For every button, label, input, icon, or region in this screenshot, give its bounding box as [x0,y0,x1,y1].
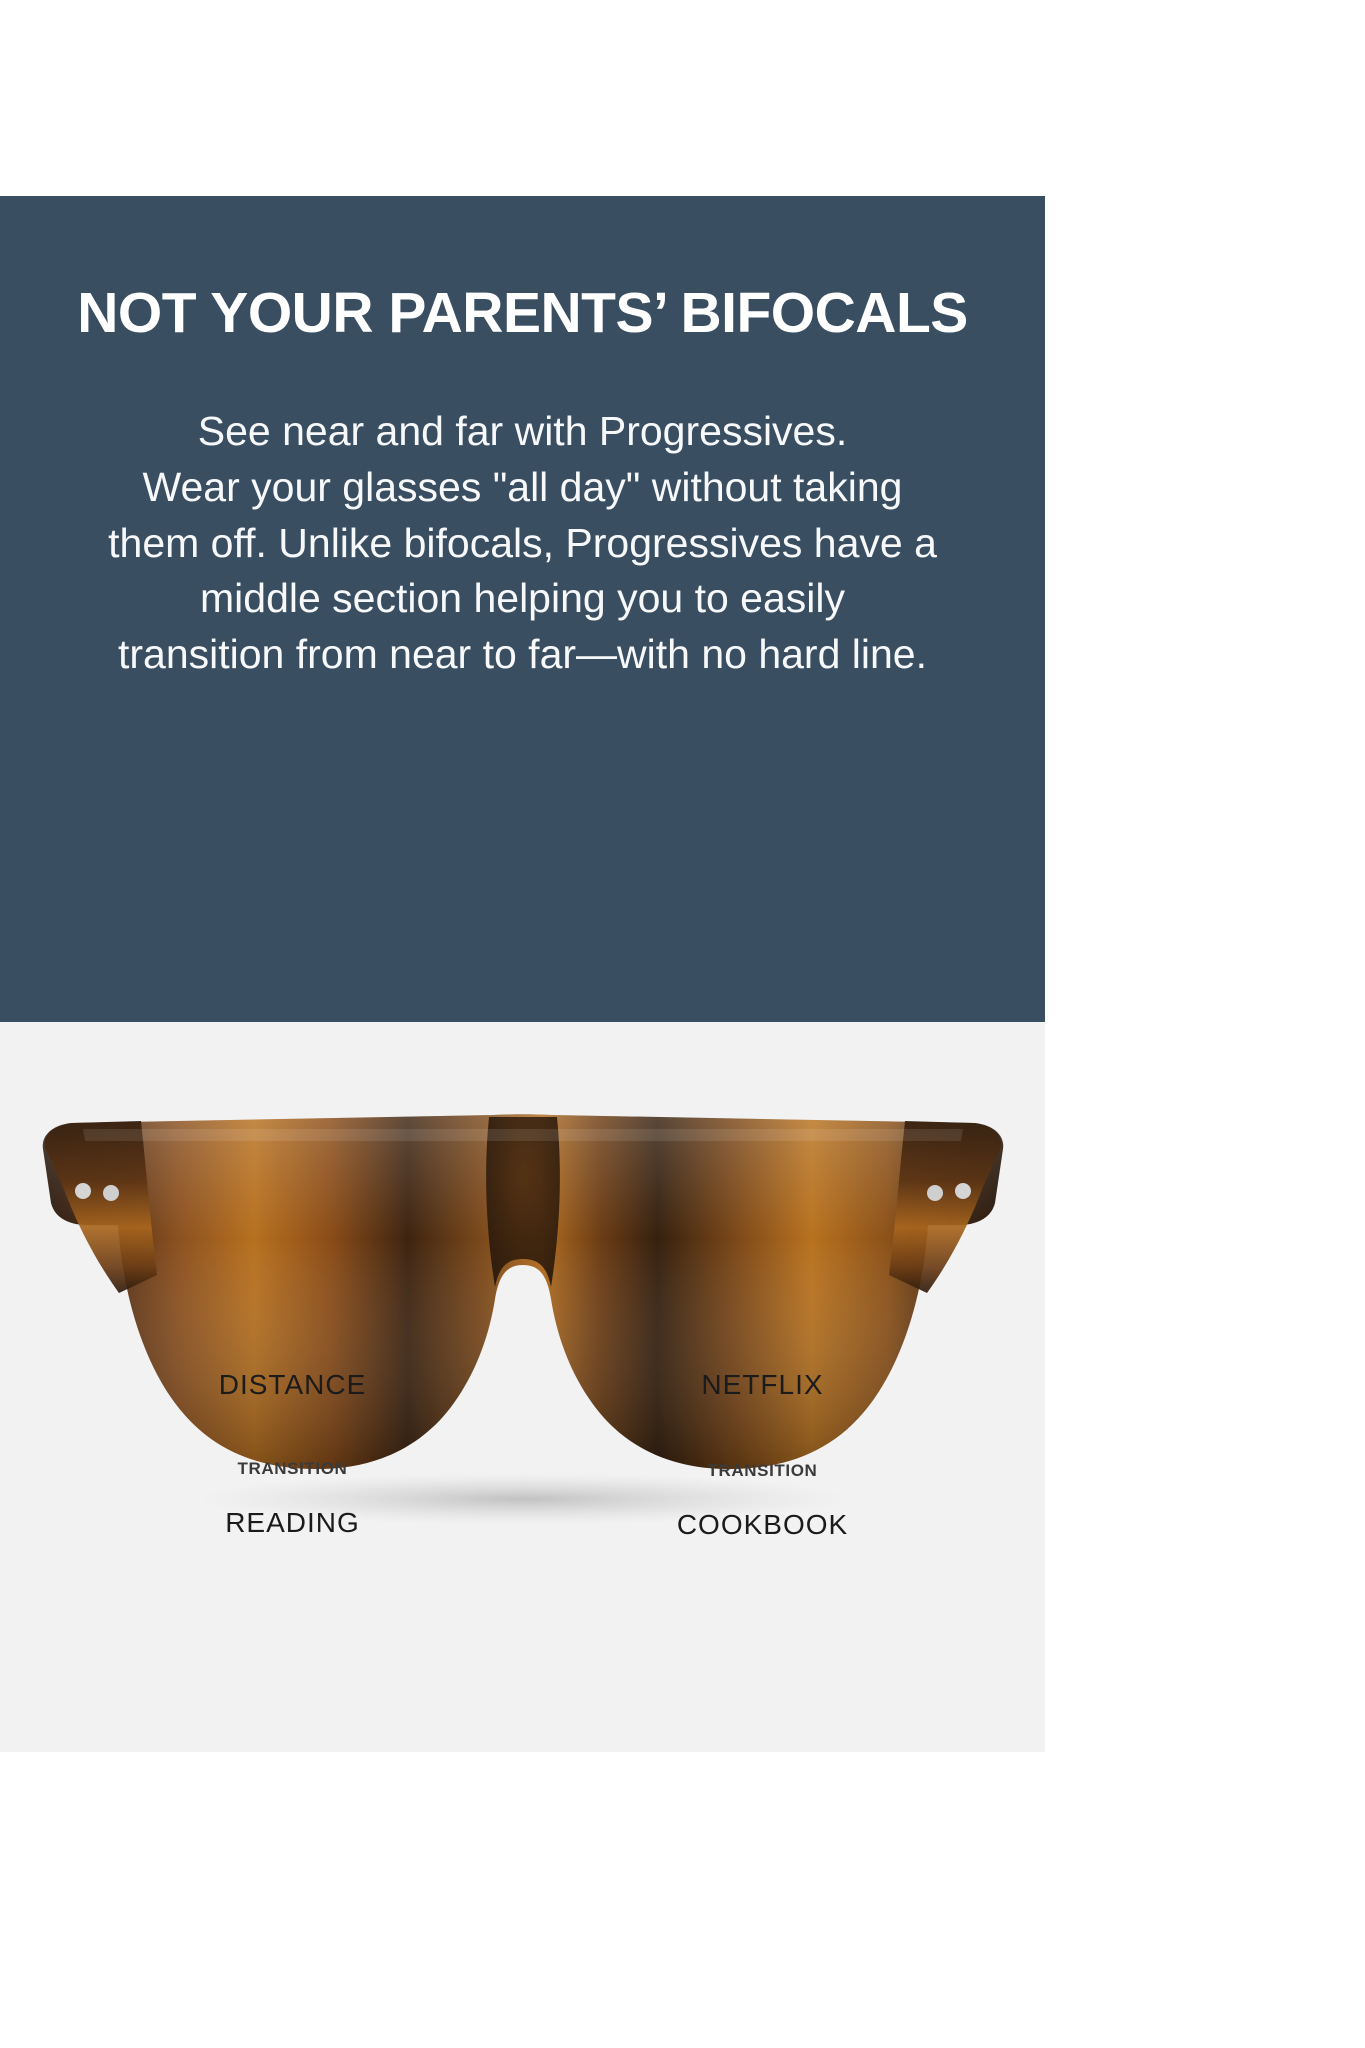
left-lens-distance-label: DISTANCE [133,1369,453,1401]
hero-body-line-4: middle section helping you to easily [60,571,985,627]
hero-body-copy: See near and far with Progressives. Wear… [60,404,985,683]
rivet-right-outer [955,1183,971,1199]
eyeglasses-image: DISTANCE TRANSITION READING NETFLIX TRAN… [23,1107,1023,1667]
content-column: NOT YOUR PARENTS’ BIFOCALS See near and … [0,0,1045,2048]
eyeglasses-frame [42,1114,1002,1469]
frame-highlight [83,1129,963,1141]
product-photo-section: DISTANCE TRANSITION READING NETFLIX TRAN… [0,1022,1045,1752]
right-lens-netflix-label: NETFLIX [603,1369,923,1401]
rivet-left-outer [75,1183,91,1199]
right-lens-transition-label: TRANSITION [603,1461,923,1481]
hero-body-line-5: transition from near to far—with no hard… [60,627,985,683]
hero-body-line-1: See near and far with Progressives. [60,404,985,460]
rivet-right-inner [927,1185,943,1201]
hero-body-line-2: Wear your glasses "all day" without taki… [60,460,985,516]
hero-section: NOT YOUR PARENTS’ BIFOCALS See near and … [0,196,1045,1022]
left-lens-reading-label: READING [133,1507,453,1539]
page-root: NOT YOUR PARENTS’ BIFOCALS See near and … [0,0,1365,2048]
left-lens-transition-label: TRANSITION [133,1459,453,1479]
rivet-left-inner [103,1185,119,1201]
right-lens-cookbook-label: COOKBOOK [603,1509,923,1541]
page-title: NOT YOUR PARENTS’ BIFOCALS [0,284,1045,344]
hero-body-line-3: them off. Unlike bifocals, Progressives … [60,516,985,572]
